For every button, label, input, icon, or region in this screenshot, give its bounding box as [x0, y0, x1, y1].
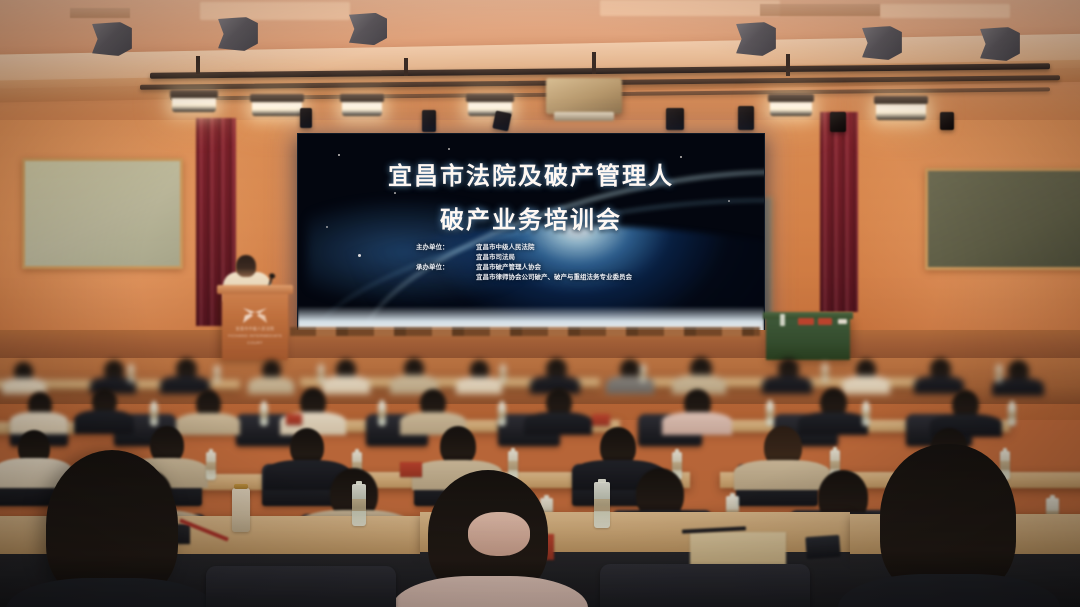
stage-strip-light [252, 100, 302, 116]
credit-key-spacer [416, 252, 464, 262]
star [448, 148, 450, 150]
par-can-light [830, 112, 846, 132]
red-notepad [286, 414, 302, 425]
attendee-shoulders [322, 376, 370, 394]
lectern: 宜昌市中级人民法院 YICHANG INTERMEDIATE COURT [222, 292, 288, 360]
water-bottle [594, 482, 610, 528]
water-bottle [822, 365, 828, 383]
ceiling-projector [546, 78, 622, 114]
chair-back-front [600, 564, 810, 607]
attendee-shoulders [914, 376, 964, 394]
star [358, 254, 361, 257]
presentation-title: 宜昌市法院及破产管理人 破产业务培训会 [298, 156, 764, 235]
attendee-shoulders [798, 412, 868, 435]
par-can-light [300, 108, 312, 128]
truss-dropper [786, 54, 790, 76]
table-box-red [798, 318, 814, 325]
par-can-light [666, 108, 684, 130]
ceiling-recess-light [880, 4, 1010, 18]
credit-key-host: 主办单位： [416, 242, 464, 252]
stage-strip-light [876, 102, 926, 120]
water-bottle [862, 404, 870, 426]
ceiling-speaker [218, 17, 258, 51]
table-bottle [780, 314, 785, 326]
credit-value-org-1: 宜昌市破产管理人协会 [476, 262, 541, 272]
attendee-shoulders [606, 376, 654, 394]
water-bottle [214, 367, 220, 383]
water-bottle [640, 366, 646, 383]
credit-value-org-2: 宜昌市律师协会公司破产、破产与重组法务专业委员会 [476, 272, 632, 282]
attendee-shoulders [662, 412, 732, 435]
ceiling-recess-light [600, 0, 780, 16]
thermos-flask [232, 488, 250, 532]
stage-strip-light [342, 100, 382, 116]
ceiling-vent [760, 4, 880, 16]
lectern-caption-line2: YICHANG INTERMEDIATE COURT [222, 333, 288, 347]
credit-value-host-2: 宜昌市司法局 [476, 252, 515, 262]
lectern-top [217, 285, 293, 294]
water-bottle [498, 404, 506, 426]
water-bottle [996, 366, 1002, 383]
water-bottle [378, 403, 386, 426]
water-bottle [128, 366, 134, 383]
water-bottle [318, 366, 324, 383]
ceiling-vent [70, 8, 130, 18]
water-bottle [1008, 404, 1016, 426]
acoustic-panel-right [925, 168, 1080, 270]
attendee-shoulders [248, 377, 294, 394]
water-bottle [766, 403, 774, 426]
ceiling-speaker [92, 22, 132, 56]
stage-edge-trim [290, 327, 760, 336]
acoustic-panel-left [22, 158, 183, 269]
attendee-shoulders [74, 410, 134, 434]
conference-hall-photo: 宜昌市法院及破产管理人 破产业务培训会 主办单位： 宜昌市中级人民法院 宜昌市司… [0, 0, 1080, 607]
credit-value-host-1: 宜昌市中级人民法院 [476, 242, 535, 252]
truss-dropper [404, 58, 408, 76]
presentation-title-line2: 破产业务培训会 [298, 200, 764, 235]
presenter-head [236, 255, 256, 277]
ceiling-speaker [980, 27, 1020, 61]
smartphone [805, 535, 840, 559]
truss-dropper [196, 56, 200, 74]
table-box-red [818, 318, 832, 325]
water-bottle [206, 452, 216, 480]
red-notepad [592, 414, 610, 426]
lectern-caption: 宜昌市中级人民法院 YICHANG INTERMEDIATE COURT [222, 326, 288, 346]
chair-back-front [206, 566, 396, 607]
red-notepad [400, 462, 422, 477]
water-bottle [352, 484, 366, 526]
ceiling-recess-light [200, 2, 350, 20]
stage-curtain-right [820, 112, 858, 312]
attendee-shoulders [456, 377, 502, 394]
water-bottle [500, 366, 506, 383]
attendee-shoulders [762, 376, 812, 394]
lectern-caption-line1: 宜昌市中级人民法院 [222, 326, 288, 333]
led-presentation-screen: 宜昌市法院及破产管理人 破产业务培训会 主办单位： 宜昌市中级人民法院 宜昌市司… [297, 133, 765, 335]
water-bottle [150, 404, 158, 426]
attendee-shoulders [842, 376, 890, 394]
hair-scrunchie [468, 512, 530, 556]
presentation-title-line1: 宜昌市法院及破产管理人 [388, 162, 674, 190]
credit-key-organizer: 承办单位： [416, 262, 464, 272]
attendee-shoulders [734, 460, 830, 490]
credit-key-spacer [416, 272, 464, 282]
presentation-credits: 主办单位： 宜昌市中级人民法院 宜昌市司法局 承办单位： 宜昌市破产管理人协会 … [416, 242, 632, 282]
stage-strip-light [770, 100, 812, 116]
water-bottle [260, 404, 268, 426]
table-paper [838, 319, 847, 324]
ceiling-speaker [736, 22, 776, 56]
attendee-shoulders [524, 412, 592, 435]
truss-dropper [592, 52, 596, 74]
par-can-light [422, 110, 436, 132]
par-can-light [738, 106, 754, 130]
ceiling-speaker [349, 13, 387, 45]
ceiling-speaker [862, 26, 902, 60]
paper-pad [690, 532, 786, 566]
attendee-shoulders [176, 413, 240, 435]
venue-bowtie-logo [243, 308, 267, 323]
par-can-light [940, 112, 954, 130]
stage-side-table [766, 317, 850, 360]
stage-strip-light [172, 96, 216, 112]
